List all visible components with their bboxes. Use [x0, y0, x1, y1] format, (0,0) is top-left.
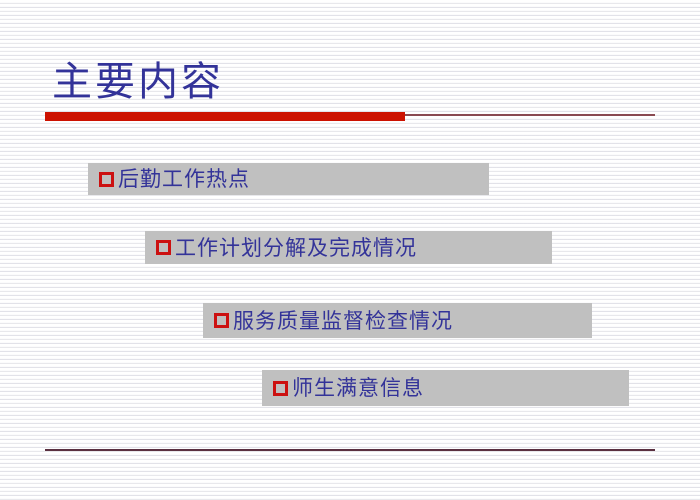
page-title: 主要内容	[52, 58, 224, 106]
agenda-item-1[interactable]: 后勤工作热点	[88, 163, 489, 195]
footer-divider	[45, 449, 655, 451]
square-bullet-icon	[273, 381, 288, 396]
square-bullet-icon	[156, 240, 171, 255]
agenda-item-label: 师生满意信息	[292, 376, 424, 400]
square-bullet-icon	[214, 313, 229, 328]
agenda-item-4[interactable]: 师生满意信息	[262, 370, 629, 406]
square-bullet-icon	[99, 172, 114, 187]
agenda-item-3[interactable]: 服务质量监督检查情况	[203, 303, 592, 338]
presentation-slide: 主要内容 后勤工作热点 工作计划分解及完成情况 服务质量监督检查情况 师生满意信…	[0, 0, 700, 500]
title-accent-bar	[45, 112, 405, 121]
agenda-item-label: 工作计划分解及完成情况	[175, 236, 417, 260]
agenda-item-label: 后勤工作热点	[118, 167, 250, 191]
agenda-item-2[interactable]: 工作计划分解及完成情况	[145, 231, 552, 264]
agenda-item-label: 服务质量监督检查情况	[233, 309, 453, 333]
title-accent-line	[405, 114, 655, 116]
